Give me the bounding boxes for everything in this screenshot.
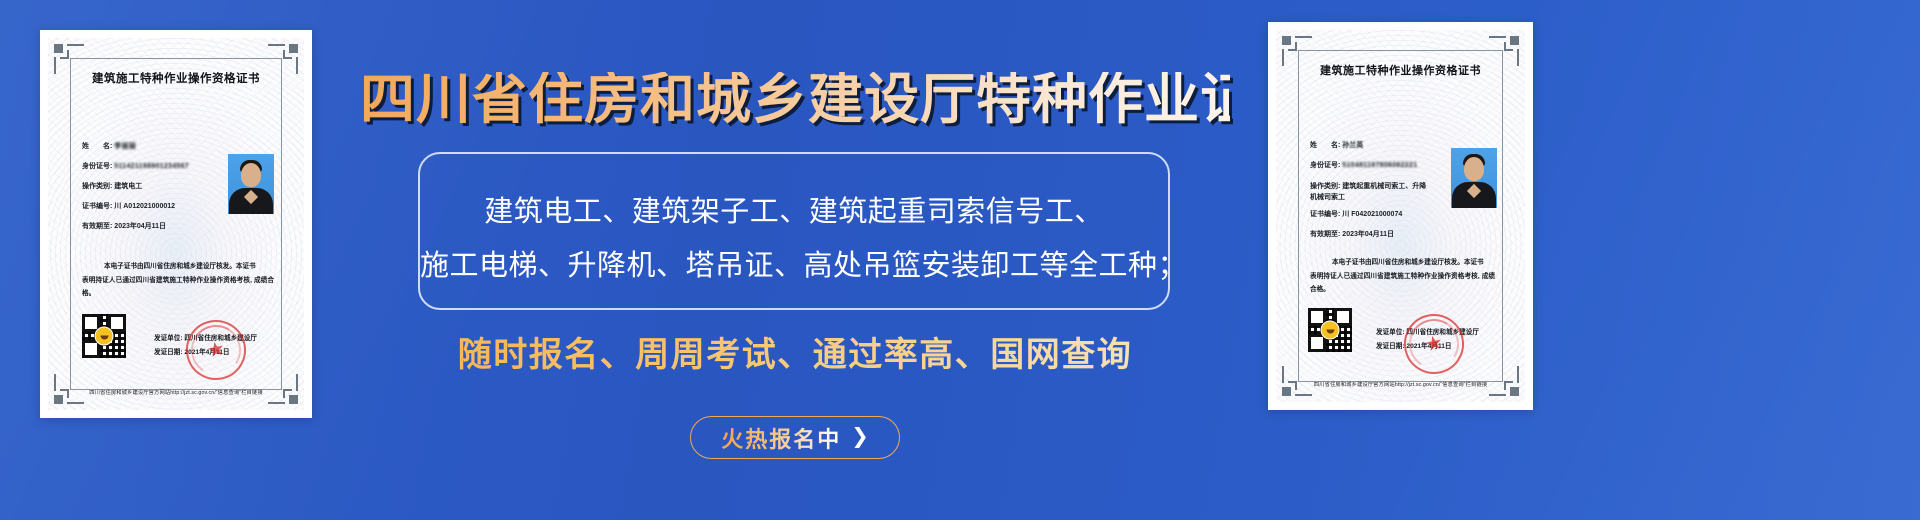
qr-code-icon bbox=[82, 314, 126, 358]
field-name: 姓 名: 李丽丽 bbox=[82, 143, 189, 150]
photo-face bbox=[241, 163, 261, 187]
certificate-fields: 姓 名: 李丽丽 身份证号: 511421198901234567 操作类别: … bbox=[82, 143, 189, 243]
field-label: 操作类别: bbox=[82, 183, 112, 190]
seal-star-icon: ★ bbox=[1423, 332, 1445, 355]
field-id-number: 身份证号: 510481197806082221 bbox=[1310, 162, 1430, 169]
photo-face bbox=[1464, 157, 1484, 181]
certificate-statement: 本电子证书由四川省住房和城乡建设厅核发。本证书 表明持证人已通过四川省建筑施工特… bbox=[1310, 256, 1495, 297]
qr-center-logo-icon bbox=[1321, 321, 1340, 340]
field-label: 操作类别: bbox=[1310, 183, 1340, 190]
page-title: 四川省住房和城乡建设厅特种作业证 bbox=[360, 72, 1230, 127]
field-label: 姓 名: bbox=[82, 143, 112, 150]
statement-line-1: 本电子证书由四川省住房和城乡建设厅核发。本证书 bbox=[82, 260, 274, 274]
certificate-paper: 建筑施工特种作业操作资格证书 姓 名: 李丽丽 身份证号: 5114211989… bbox=[48, 38, 304, 410]
qr-center-logo-icon bbox=[95, 327, 114, 346]
statement-line-2: 表明持证人已通过四川省建筑施工特种作业操作资格考核, bbox=[82, 277, 252, 284]
field-valid-until: 有效期至: 2023年04月11日 bbox=[82, 223, 189, 230]
qr-code-icon bbox=[1308, 308, 1352, 352]
cta-container: 火热报名中 ❯ bbox=[360, 416, 1230, 459]
statement-line-1: 本电子证书由四川省住房和城乡建设厅核发。本证书 bbox=[1310, 256, 1495, 270]
certificate-title: 建筑施工特种作业操作资格证书 bbox=[48, 70, 304, 86]
field-label: 身份证号: bbox=[1310, 162, 1340, 169]
field-value: 2023年04月11日 bbox=[114, 223, 166, 230]
course-list-box: 建筑电工、建筑架子工、建筑起重司索信号工、 施工电梯、升降机、塔吊证、高处吊篮安… bbox=[418, 152, 1170, 310]
certificate-statement: 本电子证书由四川省住房和城乡建设厅核发。本证书 表明持证人已通过四川省建筑施工特… bbox=[82, 260, 274, 301]
certificate-paper: 建筑施工特种作业操作资格证书 姓 名: 孙兰英 身份证号: 5104811978… bbox=[1276, 30, 1525, 402]
issuer-label: 发证单位: bbox=[154, 335, 183, 342]
field-value: 510481197806082221 bbox=[1342, 162, 1417, 169]
enroll-now-button[interactable]: 火热报名中 ❯ bbox=[690, 416, 900, 459]
field-name: 姓 名: 孙兰英 bbox=[1310, 142, 1430, 149]
field-label: 有效期至: bbox=[82, 223, 112, 230]
field-id-number: 身份证号: 511421198901234567 bbox=[82, 163, 189, 170]
field-value: 李丽丽 bbox=[114, 143, 136, 150]
issue-date-label: 发证日期: bbox=[154, 349, 183, 356]
field-operation-type: 操作类别: 建筑电工 bbox=[82, 183, 189, 190]
field-operation-type: 操作类别: 建筑起重机械司索工、升降机械司索工 bbox=[1310, 182, 1430, 204]
field-label: 证书编号: bbox=[82, 203, 112, 210]
field-certificate-number: 证书编号: 川 F042021000074 bbox=[1310, 211, 1430, 218]
chevron-right-icon: ❯ bbox=[851, 426, 869, 447]
seal-star-icon: ★ bbox=[205, 338, 227, 361]
promo-banner: 建筑施工特种作业操作资格证书 姓 名: 李丽丽 身份证号: 5114211989… bbox=[0, 0, 1920, 520]
field-certificate-number: 证书编号: 川 A012021000012 bbox=[82, 203, 189, 210]
issuer-label: 发证单位: bbox=[1376, 329, 1405, 336]
certificate-footnote: 四川省住房和城乡建设厅官方网站http://jzt.sc.gov.cn/“信息查… bbox=[1298, 380, 1503, 388]
certificate-photo bbox=[228, 154, 274, 214]
field-value: 建筑电工 bbox=[114, 183, 142, 190]
field-value: 川 A012021000012 bbox=[114, 203, 175, 210]
certificate-photo bbox=[1451, 148, 1497, 208]
banner-content: 四川省住房和城乡建设厅特种作业证 建筑电工、建筑架子工、建筑起重司索信号工、 施… bbox=[360, 0, 1230, 520]
enroll-now-label: 火热报名中 bbox=[721, 422, 841, 454]
field-value: 2023年04月11日 bbox=[1342, 231, 1394, 238]
slogan-text: 随时报名、周周考试、通过率高、国网查询 bbox=[360, 327, 1230, 376]
certificate-fields: 姓 名: 孙兰英 身份证号: 510481197806082221 操作类别: … bbox=[1310, 142, 1430, 251]
field-label: 有效期至: bbox=[1310, 231, 1340, 238]
field-value: 511421198901234567 bbox=[114, 163, 189, 170]
statement-line-2: 表明持证人已通过四川省建筑施工特种作业操作资格考核, bbox=[1310, 273, 1480, 280]
certificate-title: 建筑施工特种作业操作资格证书 bbox=[1276, 62, 1525, 78]
course-list-line-2: 施工电梯、升降机、塔吊证、高处吊篮安装卸工等全工种； bbox=[420, 242, 1168, 284]
field-label: 证书编号: bbox=[1310, 211, 1340, 218]
field-valid-until: 有效期至: 2023年04月11日 bbox=[1310, 231, 1430, 238]
field-label: 身份证号: bbox=[82, 163, 112, 170]
field-value: 孙兰英 bbox=[1342, 142, 1363, 149]
field-value: 川 F042021000074 bbox=[1342, 211, 1402, 218]
issue-date-label: 发证日期: bbox=[1376, 343, 1405, 350]
field-label: 姓 名: bbox=[1310, 142, 1340, 149]
course-list-line-1: 建筑电工、建筑架子工、建筑起重司索信号工、 bbox=[420, 188, 1168, 230]
certificate-card-left: 建筑施工特种作业操作资格证书 姓 名: 李丽丽 身份证号: 5114211989… bbox=[40, 30, 312, 418]
certificate-card-right: 建筑施工特种作业操作资格证书 姓 名: 孙兰英 身份证号: 5104811978… bbox=[1268, 22, 1533, 410]
certificate-footnote: 四川省住房和城乡建设厅官方网站http://jzt.sc.gov.cn/“信息查… bbox=[70, 388, 282, 396]
